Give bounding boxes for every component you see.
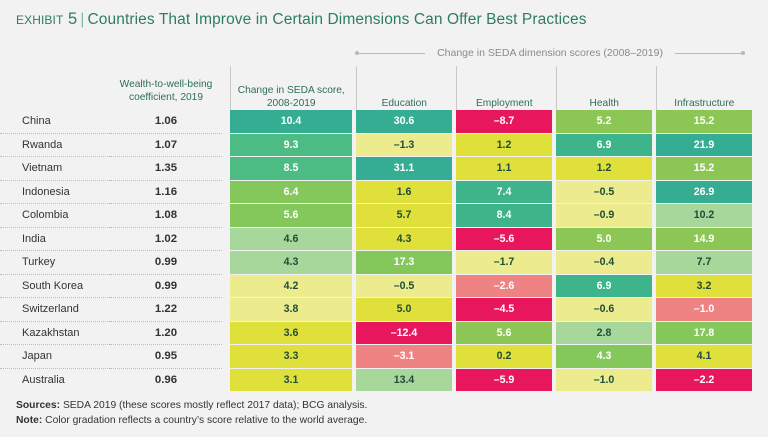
heat-cell-change: 5.6 xyxy=(230,204,352,228)
header-gap-1 xyxy=(222,66,230,110)
table-row: Colombia1.085.65.78.4–0.910.2 xyxy=(0,204,752,228)
dimension-band: Change in SEDA dimension scores (2008–20… xyxy=(355,46,745,60)
table-row: Rwanda1.079.3–1.31.26.921.9 xyxy=(0,133,752,157)
table-row: Switzerland1.223.85.0–4.5–0.6–1.0 xyxy=(0,298,752,322)
exhibit-label: Exhibit 5 xyxy=(16,10,77,28)
heat-cell-education: –1.3 xyxy=(356,133,452,157)
heat-cell-change: 8.5 xyxy=(230,157,352,181)
heat-cell-education: 1.6 xyxy=(356,180,452,204)
table-row: Australia0.963.113.4–5.9–1.0–2.2 xyxy=(0,368,752,391)
sources-text: SEDA 2019 (these scores mostly reflect 2… xyxy=(60,400,367,411)
table-row: Vietnam1.358.531.11.11.215.2 xyxy=(0,157,752,181)
heat-cell-infrastructure: 17.8 xyxy=(656,321,752,345)
table-row: South Korea0.994.2–0.5–2.66.93.2 xyxy=(0,274,752,298)
heat-cell-health: 6.9 xyxy=(556,133,652,157)
table-row: Indonesia1.166.41.67.4–0.526.9 xyxy=(0,180,752,204)
country-name-cell: China xyxy=(0,110,110,133)
heat-cell-health: –0.4 xyxy=(556,251,652,275)
heat-cell-employment: 1.1 xyxy=(456,157,552,181)
heat-cell-health: –1.0 xyxy=(556,368,652,391)
country-name-cell: Colombia xyxy=(0,204,110,228)
coefficient-cell: 0.95 xyxy=(110,345,222,369)
heat-cell-infrastructure: 10.2 xyxy=(656,204,752,228)
cell-gap xyxy=(222,110,230,133)
heat-cell-change: 6.4 xyxy=(230,180,352,204)
band-label: Change in SEDA dimension scores (2008–20… xyxy=(425,47,675,59)
heat-cell-employment: 5.6 xyxy=(456,321,552,345)
heat-cell-change: 3.6 xyxy=(230,321,352,345)
heat-cell-employment: –5.9 xyxy=(456,368,552,391)
header-coefficient-line1: Wealth-to-well-being xyxy=(120,79,213,90)
country-name-cell: Switzerland xyxy=(0,298,110,322)
heat-cell-health: 6.9 xyxy=(556,274,652,298)
heat-cell-change: 4.3 xyxy=(230,251,352,275)
coefficient-cell: 1.22 xyxy=(110,298,222,322)
header-change-line2: 2008-2019 xyxy=(267,98,316,109)
country-name-cell: India xyxy=(0,227,110,251)
country-name-cell: Indonesia xyxy=(0,180,110,204)
country-name-cell: Japan xyxy=(0,345,110,369)
heat-cell-infrastructure: 15.2 xyxy=(656,110,752,133)
seda-heatmap-table: Wealth-to-well-being coefficient, 2019 C… xyxy=(0,66,768,391)
heat-cell-health: 5.0 xyxy=(556,227,652,251)
heat-cell-change: 10.4 xyxy=(230,110,352,133)
page-title: Exhibit 5|Countries That Improve in Cert… xyxy=(16,10,587,29)
country-name-cell: Australia xyxy=(0,368,110,391)
country-name-cell: Vietnam xyxy=(0,157,110,181)
heat-cell-change: 4.2 xyxy=(230,274,352,298)
country-name-cell: Rwanda xyxy=(0,133,110,157)
cell-gap xyxy=(222,157,230,181)
data-grid: Wealth-to-well-being coefficient, 2019 C… xyxy=(0,66,752,391)
heat-cell-change: 4.6 xyxy=(230,227,352,251)
coefficient-cell: 1.35 xyxy=(110,157,222,181)
heat-cell-education: 13.4 xyxy=(356,368,452,391)
cell-gap xyxy=(222,368,230,391)
heat-cell-infrastructure: 21.9 xyxy=(656,133,752,157)
table-row: Turkey0.994.317.3–1.7–0.47.7 xyxy=(0,251,752,275)
note-label: Note: xyxy=(16,415,42,426)
heat-cell-education: 4.3 xyxy=(356,227,452,251)
cell-gap xyxy=(222,133,230,157)
title-divider: | xyxy=(77,11,87,28)
heat-cell-education: 5.0 xyxy=(356,298,452,322)
heat-cell-health: –0.5 xyxy=(556,180,652,204)
heat-cell-health: 1.2 xyxy=(556,157,652,181)
header-coefficient: Wealth-to-well-being coefficient, 2019 xyxy=(110,66,222,110)
heat-cell-education: 5.7 xyxy=(356,204,452,228)
header-employment: Employment xyxy=(456,66,552,110)
sources-label: Sources: xyxy=(16,400,60,411)
heat-cell-infrastructure: 15.2 xyxy=(656,157,752,181)
heat-cell-employment: –8.7 xyxy=(456,110,552,133)
coefficient-cell: 0.99 xyxy=(110,251,222,275)
cell-gap xyxy=(222,345,230,369)
heat-cell-education: 17.3 xyxy=(356,251,452,275)
heat-cell-health: –0.6 xyxy=(556,298,652,322)
heat-cell-infrastructure: 7.7 xyxy=(656,251,752,275)
heat-cell-change: 3.8 xyxy=(230,298,352,322)
sources-line: Sources: SEDA 2019 (these scores mostly … xyxy=(16,398,367,413)
table-row: Japan0.953.3–3.10.24.34.1 xyxy=(0,345,752,369)
header-change-line1: Change in SEDA score, xyxy=(238,85,345,96)
heat-cell-infrastructure: 3.2 xyxy=(656,274,752,298)
country-name-cell: Kazakhstan xyxy=(0,321,110,345)
heat-cell-employment: –1.7 xyxy=(456,251,552,275)
header-education: Education xyxy=(356,66,452,110)
heat-cell-health: 5.2 xyxy=(556,110,652,133)
table-body: China1.0610.430.6–8.75.215.2Rwanda1.079.… xyxy=(0,110,752,391)
note-line: Note: Color gradation reflects a country… xyxy=(16,413,367,428)
coefficient-cell: 0.96 xyxy=(110,368,222,391)
cell-gap xyxy=(222,180,230,204)
coefficient-cell: 1.07 xyxy=(110,133,222,157)
note-text: Color gradation reflects a country’s sco… xyxy=(42,415,367,426)
coefficient-cell: 0.99 xyxy=(110,274,222,298)
cell-gap xyxy=(222,321,230,345)
table-row: India1.024.64.3–5.65.014.9 xyxy=(0,227,752,251)
heat-cell-education: –3.1 xyxy=(356,345,452,369)
table-row: Kazakhstan1.203.6–12.45.62.817.8 xyxy=(0,321,752,345)
header-row: Wealth-to-well-being coefficient, 2019 C… xyxy=(0,66,752,110)
header-infrastructure: Infrastructure xyxy=(656,66,752,110)
heat-cell-infrastructure: –1.0 xyxy=(656,298,752,322)
header-health: Health xyxy=(556,66,652,110)
heat-cell-education: –12.4 xyxy=(356,321,452,345)
heat-cell-employment: 0.2 xyxy=(456,345,552,369)
cell-gap xyxy=(222,298,230,322)
cell-gap xyxy=(222,251,230,275)
heat-cell-infrastructure: 4.1 xyxy=(656,345,752,369)
header-coefficient-line2: coefficient, 2019 xyxy=(129,92,203,103)
coefficient-cell: 1.06 xyxy=(110,110,222,133)
cell-gap xyxy=(222,274,230,298)
heat-cell-infrastructure: 14.9 xyxy=(656,227,752,251)
header-country xyxy=(0,66,110,110)
band-rule-right xyxy=(675,53,745,54)
header-change: Change in SEDA score, 2008-2019 xyxy=(230,66,352,110)
heat-cell-change: 3.3 xyxy=(230,345,352,369)
heat-cell-employment: –5.6 xyxy=(456,227,552,251)
heat-cell-change: 3.1 xyxy=(230,368,352,391)
cell-gap xyxy=(222,204,230,228)
heat-cell-education: 31.1 xyxy=(356,157,452,181)
heat-cell-infrastructure: 26.9 xyxy=(656,180,752,204)
heat-cell-education: 30.6 xyxy=(356,110,452,133)
band-rule-left xyxy=(355,53,425,54)
coefficient-cell: 1.16 xyxy=(110,180,222,204)
heat-cell-health: 2.8 xyxy=(556,321,652,345)
heat-cell-employment: –4.5 xyxy=(456,298,552,322)
heat-cell-employment: 1.2 xyxy=(456,133,552,157)
cell-gap xyxy=(222,227,230,251)
heat-cell-education: –0.5 xyxy=(356,274,452,298)
coefficient-cell: 1.02 xyxy=(110,227,222,251)
heat-cell-employment: 8.4 xyxy=(456,204,552,228)
heat-cell-employment: 7.4 xyxy=(456,180,552,204)
table-row: China1.0610.430.6–8.75.215.2 xyxy=(0,110,752,133)
heat-cell-health: 4.3 xyxy=(556,345,652,369)
country-name-cell: South Korea xyxy=(0,274,110,298)
footnotes: Sources: SEDA 2019 (these scores mostly … xyxy=(16,398,367,429)
coefficient-cell: 1.20 xyxy=(110,321,222,345)
title-headline: Countries That Improve in Certain Dimens… xyxy=(87,11,586,28)
country-name-cell: Turkey xyxy=(0,251,110,275)
table-header: Wealth-to-well-being coefficient, 2019 C… xyxy=(0,66,752,110)
heat-cell-employment: –2.6 xyxy=(456,274,552,298)
heat-cell-health: –0.9 xyxy=(556,204,652,228)
coefficient-cell: 1.08 xyxy=(110,204,222,228)
heat-cell-infrastructure: –2.2 xyxy=(656,368,752,391)
heat-cell-change: 9.3 xyxy=(230,133,352,157)
